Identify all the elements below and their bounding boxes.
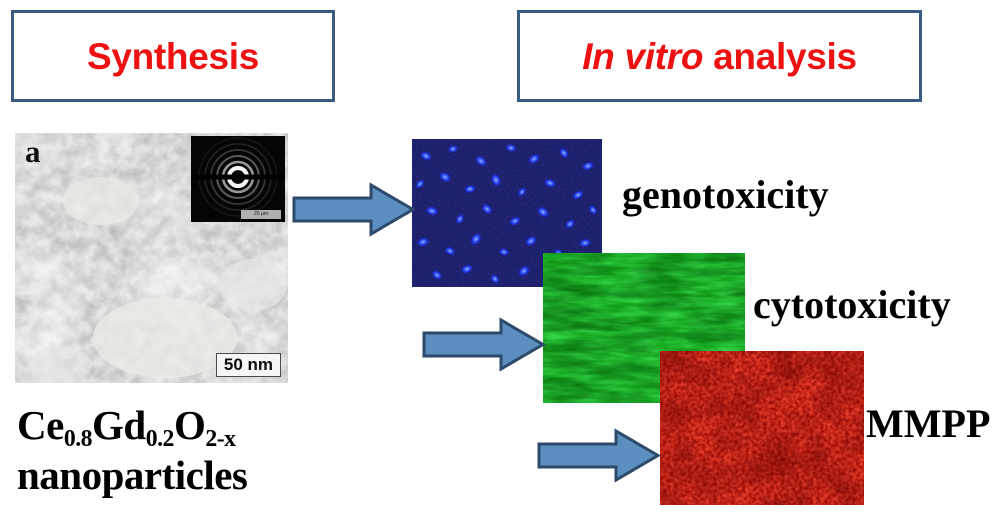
formula-line-1: Ce0.8Gd0.2O2-x	[17, 402, 236, 448]
header-box-in-vitro: In vitro analysis	[517, 10, 922, 102]
inset-scale-bar: 20 µm	[241, 210, 281, 219]
formula-caption: Ce0.8Gd0.2O2-x nanoparticles	[17, 404, 347, 496]
label-mmpp: MMPP	[866, 404, 990, 444]
header-label-in-vitro-italic: In vitro	[582, 36, 703, 77]
label-genotoxicity: genotoxicity	[622, 175, 829, 215]
arrow-to-cytotoxicity	[421, 316, 546, 373]
graphical-abstract: Synthesis In vitro analysis	[0, 0, 1000, 522]
label-cytotoxicity: cytotoxicity	[753, 285, 951, 325]
header-box-synthesis: Synthesis	[11, 10, 335, 102]
mmpp-micrograph	[660, 351, 864, 505]
saed-diffraction-inset: 20 µm	[191, 136, 285, 222]
arrow-to-mmpp	[536, 427, 661, 484]
formula-line-2: nanoparticles	[17, 454, 347, 496]
arrow-to-genotoxicity	[291, 181, 416, 238]
header-label-in-vitro: In vitro analysis	[582, 38, 857, 75]
tem-micrograph: a 20 µm 50 nm	[15, 133, 288, 383]
header-label-in-vitro-roman: analysis	[703, 36, 857, 77]
header-label-synthesis: Synthesis	[87, 38, 259, 75]
red-mito-texture	[660, 351, 864, 505]
tem-scale-bar: 50 nm	[216, 353, 281, 377]
tem-panel-letter: a	[25, 135, 41, 169]
